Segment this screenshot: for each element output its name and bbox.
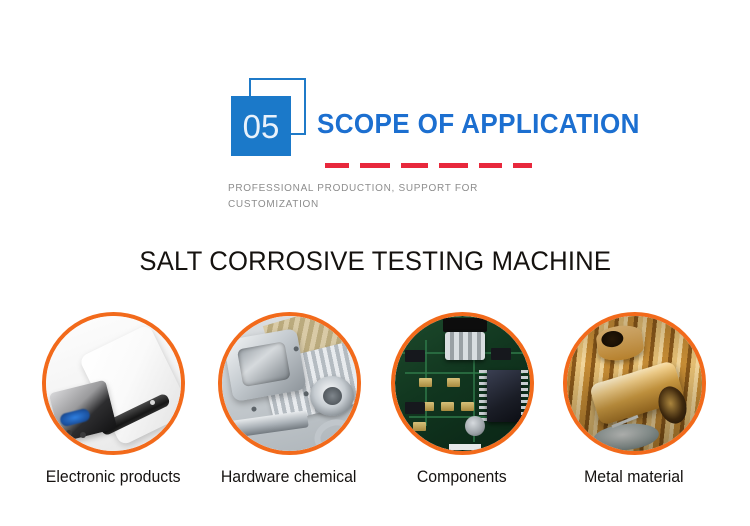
application-card-components[interactable]: Components xyxy=(376,312,548,487)
resistor-icon xyxy=(419,378,432,387)
metal-ring-icon xyxy=(309,414,357,451)
application-card-metal-material[interactable]: Metal material xyxy=(548,312,720,487)
card-caption: Metal material xyxy=(548,468,720,487)
section-subtitle-line-1: PROFESSIONAL PRODUCTION, SUPPORT FOR xyxy=(228,183,478,194)
hardware-chemical-photo xyxy=(222,316,357,451)
scene-shading xyxy=(567,316,702,451)
circle-frame xyxy=(42,312,185,455)
resistor-icon xyxy=(413,422,426,431)
resistor-icon xyxy=(461,402,474,411)
ic-chip-icon xyxy=(487,370,521,422)
card-caption: Hardware chemical xyxy=(203,468,375,487)
chip-pins-icon xyxy=(521,370,528,422)
circle-frame xyxy=(391,312,534,455)
screw-icon xyxy=(303,391,309,397)
card-caption-text: Hardware chemical xyxy=(221,468,357,487)
electronics-scene xyxy=(46,316,181,451)
application-card-hardware-chemical[interactable]: Hardware chemical xyxy=(203,312,375,487)
metal-bar-icon xyxy=(225,410,309,438)
divider-dash xyxy=(401,163,428,168)
device-button-icon xyxy=(66,430,72,436)
chip-pins-icon xyxy=(479,370,487,422)
small-ic-icon xyxy=(405,402,425,414)
section-number-badge: 05 xyxy=(228,78,310,158)
power-bank-port-icon xyxy=(150,400,155,405)
section-title: SCOPE OF APPLICATION xyxy=(317,108,640,140)
circle-frame xyxy=(563,312,706,455)
divider-dash xyxy=(479,163,502,168)
card-caption-text: Metal material xyxy=(584,468,683,487)
small-ic-icon xyxy=(491,348,511,360)
product-heading-text: SALT CORROSIVE TESTING MACHINE xyxy=(139,246,611,277)
section-header: 05 SCOPE OF APPLICATION PROFESSIONAL PRO… xyxy=(0,0,750,230)
screw-icon xyxy=(239,362,245,368)
metal-material-photo xyxy=(567,316,702,451)
card-caption: Electronic products xyxy=(27,468,199,487)
divider-dash xyxy=(325,163,349,168)
circle-frame xyxy=(218,312,361,455)
dashed-divider xyxy=(325,162,545,168)
capacitor-bank-icon xyxy=(445,332,485,360)
pcb-label-strip xyxy=(449,444,481,450)
pcb-connector-icon xyxy=(443,318,487,332)
metal-scene xyxy=(567,316,702,451)
application-cards: Electronic products xyxy=(0,312,750,502)
components-pcb-photo xyxy=(395,316,530,451)
divider-dash xyxy=(439,163,468,168)
badge-number-text: 05 xyxy=(231,96,291,156)
resistor-icon xyxy=(447,378,460,387)
section-subtitle-line-2: CUSTOMIZATION xyxy=(228,199,319,210)
small-ic-icon xyxy=(405,350,425,362)
electronic-products-photo xyxy=(46,316,181,451)
card-caption-text: Components xyxy=(417,468,507,487)
card-caption-text: Electronic products xyxy=(46,468,181,487)
divider-dash xyxy=(513,163,532,168)
application-card-electronic-products[interactable]: Electronic products xyxy=(27,312,199,487)
hardware-scene xyxy=(222,316,357,451)
screw-icon xyxy=(251,406,257,412)
application-scope-page: 05 SCOPE OF APPLICATION PROFESSIONAL PRO… xyxy=(0,0,750,526)
coin-cell-icon xyxy=(465,416,485,436)
product-heading: SALT CORROSIVE TESTING MACHINE xyxy=(0,246,750,277)
pcb-scene xyxy=(395,316,530,451)
card-caption: Components xyxy=(376,468,548,487)
device-button-icon xyxy=(80,432,86,438)
cast-housing-icon xyxy=(223,328,307,402)
divider-dash xyxy=(360,163,390,168)
resistor-icon xyxy=(441,402,454,411)
bearing-icon xyxy=(310,376,354,416)
screw-icon xyxy=(293,346,299,352)
